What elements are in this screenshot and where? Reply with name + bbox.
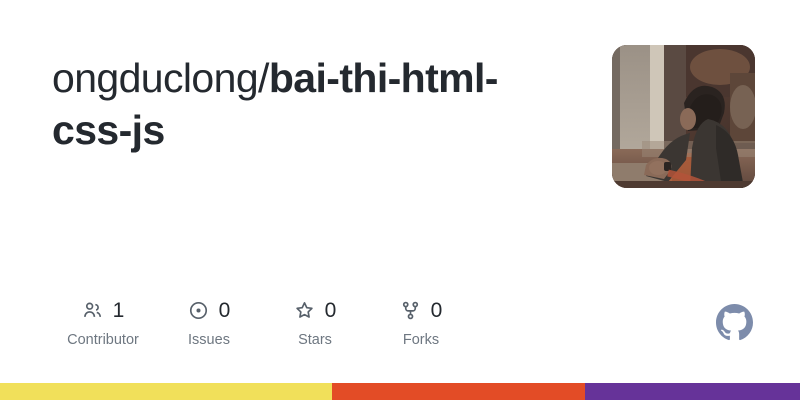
stat-label: Stars bbox=[298, 333, 332, 348]
language-segment-html bbox=[332, 383, 585, 400]
language-bar bbox=[0, 383, 800, 400]
stat-value: 0 bbox=[325, 300, 337, 321]
repository-owner: ongduclong bbox=[52, 55, 258, 101]
stat-top-row: 0 bbox=[400, 296, 443, 324]
stat-label: Issues bbox=[188, 333, 230, 348]
github-mark-icon bbox=[716, 304, 753, 341]
page-title: ongduclong/bai-thi-html-css-js bbox=[52, 52, 572, 157]
issue-opened-icon bbox=[188, 299, 210, 321]
repository-stats: 1 Contributor 0 Issues bbox=[50, 296, 474, 348]
repository-full-name: ongduclong/bai-thi-html-css-js bbox=[52, 52, 572, 157]
avatar bbox=[612, 45, 755, 188]
stat-top-row: 1 bbox=[82, 296, 125, 324]
stat-value: 0 bbox=[219, 300, 231, 321]
stat-contributors: 1 Contributor bbox=[50, 296, 156, 348]
stat-top-row: 0 bbox=[188, 296, 231, 324]
stat-issues: 0 Issues bbox=[156, 296, 262, 348]
people-icon bbox=[82, 299, 104, 321]
stat-label: Forks bbox=[403, 333, 439, 348]
stat-label: Contributor bbox=[67, 333, 139, 348]
repository-social-preview-card: ongduclong/bai-thi-html-css-js bbox=[0, 0, 800, 400]
stat-forks: 0 Forks bbox=[368, 296, 474, 348]
fork-icon bbox=[400, 299, 422, 321]
repository-separator: / bbox=[258, 55, 269, 101]
stat-value: 0 bbox=[431, 300, 443, 321]
stat-stars: 0 Stars bbox=[262, 296, 368, 348]
stat-top-row: 0 bbox=[294, 296, 337, 324]
language-segment-css bbox=[585, 383, 800, 400]
language-segment-javascript bbox=[0, 383, 332, 400]
star-icon bbox=[294, 299, 316, 321]
stat-value: 1 bbox=[113, 300, 125, 321]
